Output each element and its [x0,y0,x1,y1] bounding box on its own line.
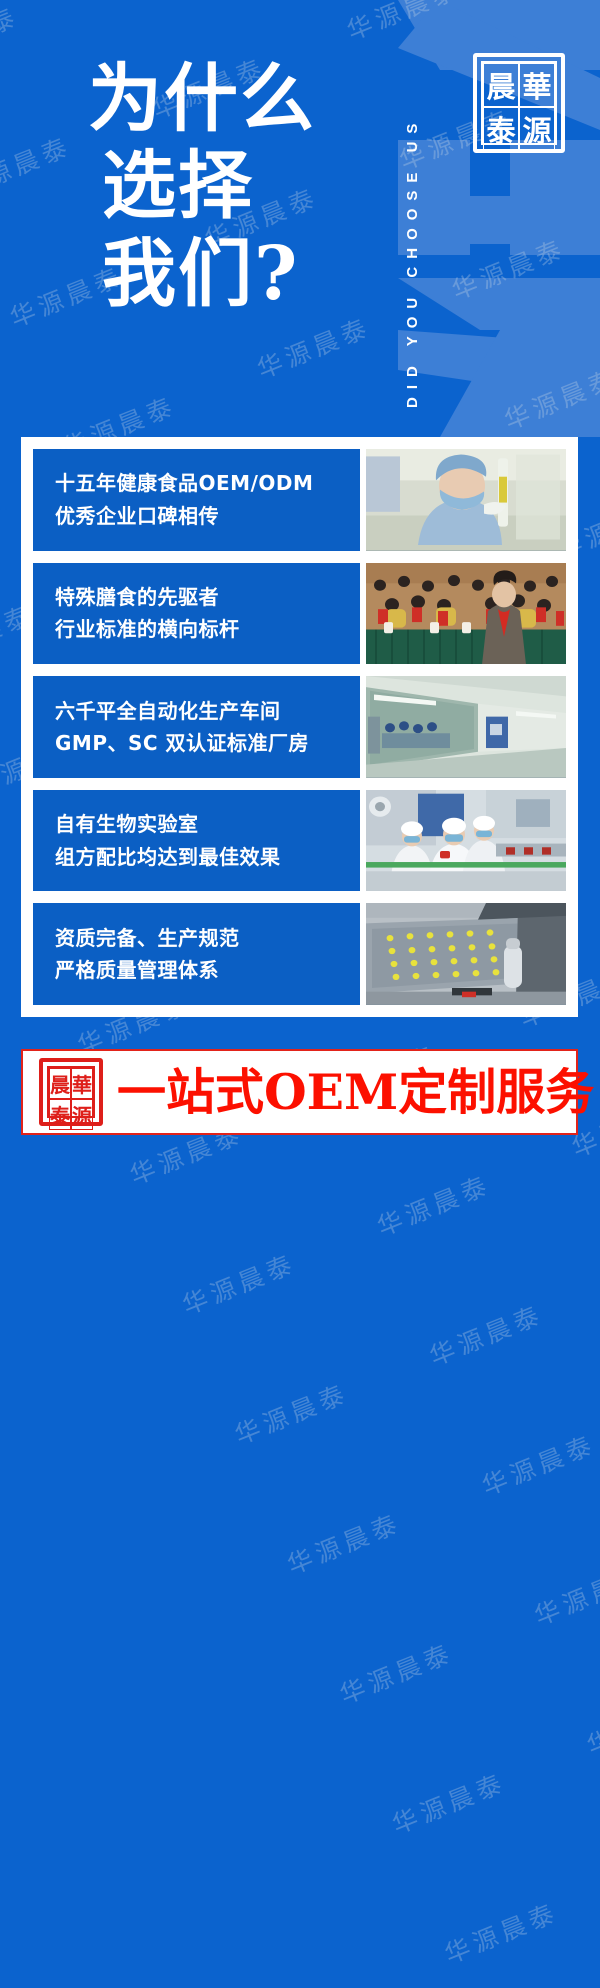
feature-text-card: 自有生物实验室 组方配比均达到最佳效果 [33,790,360,892]
feature-text-card: 资质完备、生产规范 严格质量管理体系 [33,903,360,1005]
page-title-line-1: 为什么 [88,56,388,143]
feature-row: 十五年健康食品OEM/ODM 优秀企业口碑相传 [33,449,566,551]
watermark-text: 华源晨泰 [240,1487,448,1599]
company-seal-logo-icon: 晨 華 泰 源 [39,1058,103,1126]
seal-char-2: 華 [519,63,555,107]
feature-row: 六千平全自动化生产车间 GMP、SC 双认证标准厂房 [33,676,566,778]
bottom-service-banner: 晨 華 泰 源 一站式OEM定制服务 [21,1049,578,1135]
watermark-text: 华源晨泰 [292,1617,500,1729]
feature-line-2: GMP、SC 双认证标准厂房 [55,727,360,759]
feature-row: 自有生物实验室 组方配比均达到最佳效果 [33,790,566,892]
feature-line-1: 六千平全自动化生产车间 [55,695,360,727]
watermark-text: 华源晨泰 [592,1797,600,1909]
conference-audience-photo [366,563,566,665]
production-line-staff-photo [366,790,566,892]
watermark-text: 华源晨泰 [539,1668,600,1780]
seal-char-1: 晨 [483,63,519,107]
watermark-text: 华源晨泰 [397,1876,600,1988]
feature-text-card: 六千平全自动化生产车间 GMP、SC 双认证标准厂房 [33,676,360,778]
page-title-line-2: 选择 [88,143,388,230]
vertical-tagline: DID YOU CHOOSE US [404,18,421,408]
feature-line-1: 自有生物实验室 [55,808,360,840]
watermark-text: 华源晨泰 [487,1538,600,1650]
seal-char-1: 晨 [49,1068,71,1099]
feature-row: 特殊膳食的先驱者 行业标准的横向标杆 [33,563,566,665]
feature-line-1: 十五年健康食品OEM/ODM [55,467,360,499]
feature-line-2: 组方配比均达到最佳效果 [55,841,360,873]
watermark-text: 华源晨泰 [434,1408,600,1520]
watermark-text: 华源晨泰 [329,1148,537,1260]
seal-char-2: 華 [71,1068,93,1099]
poster-header: 为什么 选择 我们? DID YOU CHOOSE US 晨 華 泰 源 [0,0,600,437]
feature-line-2: 优秀企业口碑相传 [55,500,360,532]
feature-line-2: 严格质量管理体系 [55,954,360,986]
cleanroom-corridor-photo [366,676,566,778]
seal-char-3: 泰 [49,1099,71,1130]
watermark-text: 华源晨泰 [187,1357,395,1469]
watermark-text: 华源晨泰 [345,1746,553,1858]
seal-char-4: 源 [519,107,555,151]
feature-text-card: 十五年健康食品OEM/ODM 优秀企业口碑相传 [33,449,360,551]
feature-row: 资质完备、生产规范 严格质量管理体系 [33,903,566,1005]
feature-line-2: 行业标准的横向标杆 [55,613,360,645]
page-title: 为什么 选择 我们? [88,56,388,318]
feature-line-1: 资质完备、生产规范 [55,922,360,954]
feature-line-1: 特殊膳食的先驱者 [55,581,360,613]
watermark-text: 华源晨泰 [135,1227,343,1339]
tablet-packaging-machine-photo [366,903,566,1005]
watermark-text: 华源晨泰 [577,1200,600,1312]
feature-text-card: 特殊膳食的先驱者 行业标准的横向标杆 [33,563,360,665]
banner-headline: 一站式OEM定制服务 [117,1068,594,1117]
page-title-line-3: 我们? [88,231,388,318]
seal-char-4: 源 [71,1099,93,1130]
lab-technician-photo [366,449,566,551]
seal-char-3: 泰 [483,107,519,151]
company-seal-logo-icon: 晨 華 泰 源 [473,53,565,153]
feature-list: 十五年健康食品OEM/ODM 优秀企业口碑相传 [33,449,566,1005]
watermark-text: 华源晨泰 [382,1278,590,1390]
feature-list-frame: 十五年健康食品OEM/ODM 优秀企业口碑相传 [21,437,578,1017]
